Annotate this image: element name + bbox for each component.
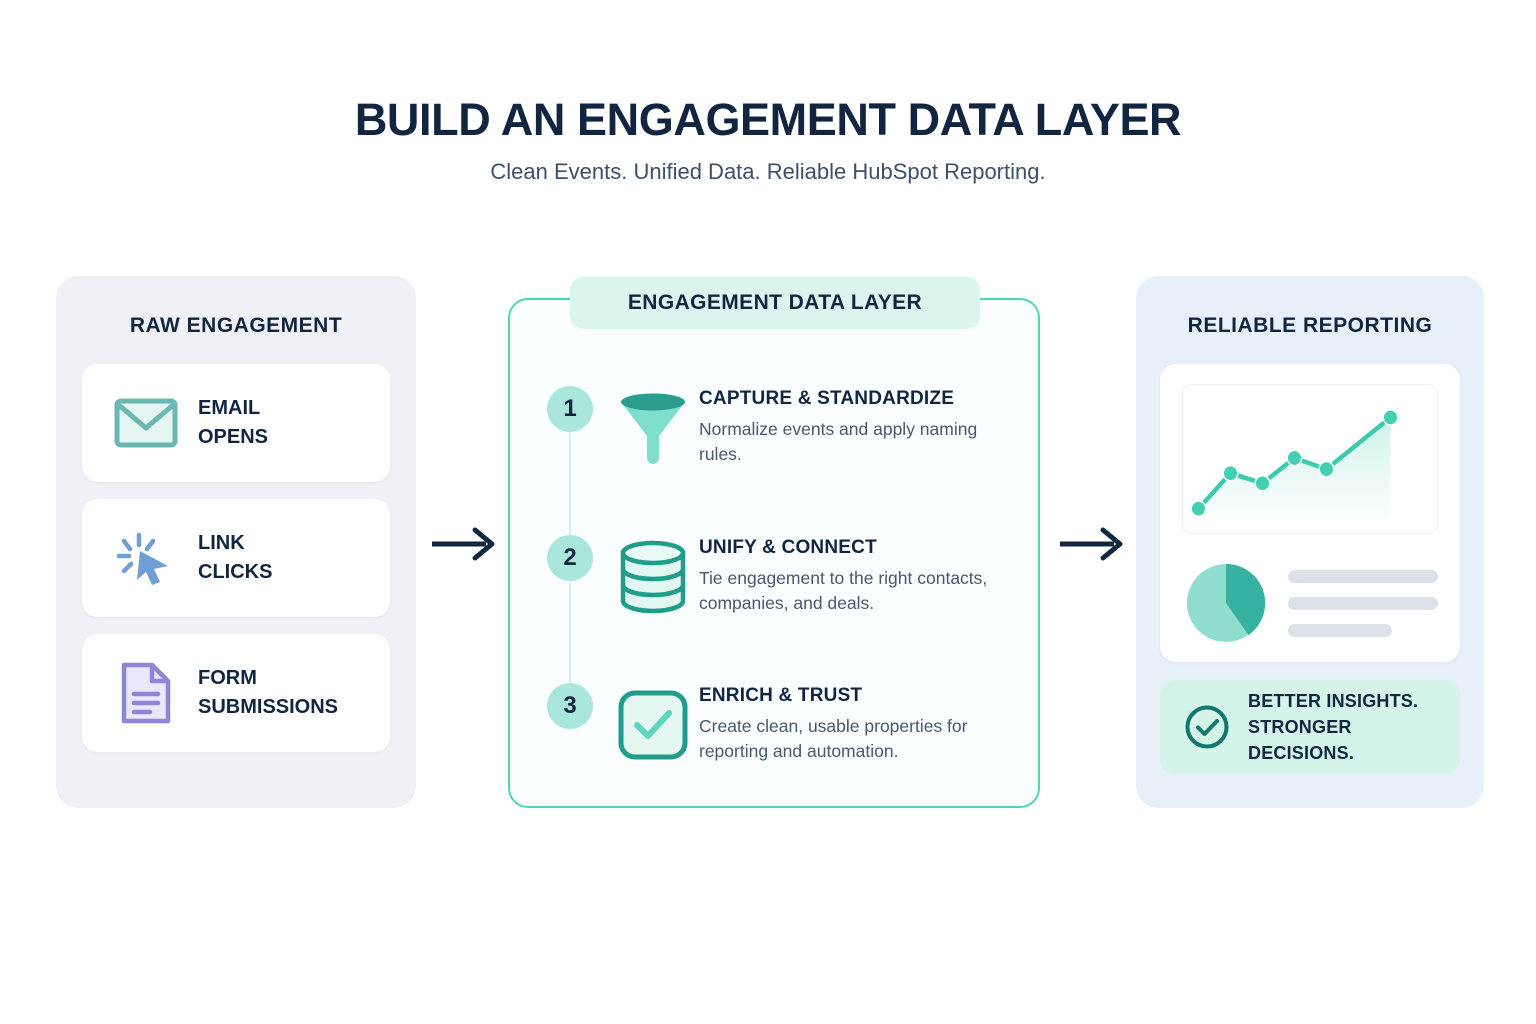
step-item-2[interactable]: 2 UNIFY & CONNECT Tie engagement to the … <box>508 535 1040 619</box>
envelope-icon <box>108 398 184 448</box>
database-icon <box>607 535 699 619</box>
data-point <box>1255 476 1270 491</box>
step-number-2: 2 <box>547 535 593 581</box>
placeholder-bar <box>1288 624 1392 637</box>
arrow-center-to-right-icon <box>1058 524 1128 564</box>
page-subtitle: Clean Events. Unified Data. Reliable Hub… <box>0 159 1536 185</box>
insight-line1: BETTER INSIGHTS. <box>1248 688 1460 714</box>
circle-check-icon <box>1184 704 1232 750</box>
step-text-3: ENRICH & TRUST Create clean, usable prop… <box>699 683 1040 764</box>
steps-list: 1 CAPTURE & STANDARDIZE Normalize events… <box>508 376 1040 796</box>
step-desc-1: Normalize events and apply naming rules. <box>699 417 1014 467</box>
step-title-3: ENRICH & TRUST <box>699 685 1014 707</box>
data-point <box>1383 410 1398 425</box>
raw-engagement-heading: RAW ENGAGEMENT <box>82 314 390 338</box>
page-title: BUILD AN ENGAGEMENT DATA LAYER <box>0 96 1536 143</box>
cursor-click-icon <box>108 529 184 587</box>
insight-text: BETTER INSIGHTS. STRONGER DECISIONS. <box>1248 688 1460 766</box>
source-label-line1: FORM <box>198 664 338 693</box>
data-point <box>1191 501 1206 516</box>
reliable-reporting-heading: RELIABLE REPORTING <box>1160 314 1460 338</box>
step-desc-3: Create clean, usable properties for repo… <box>699 714 1014 764</box>
placeholder-bars <box>1270 570 1438 637</box>
source-label-line2: SUBMISSIONS <box>198 693 338 722</box>
step-item-1[interactable]: 1 CAPTURE & STANDARDIZE Normalize events… <box>508 386 1040 470</box>
arrow-left-to-center-icon <box>430 524 500 564</box>
pie-chart <box>1182 560 1270 646</box>
source-label-line2: CLICKS <box>198 558 272 587</box>
engagement-data-layer-badge: ENGAGEMENT DATA LAYER <box>570 277 980 329</box>
source-label-line2: OPENS <box>198 423 268 452</box>
report-card <box>1160 364 1460 662</box>
insight-line2: STRONGER DECISIONS. <box>1248 714 1460 766</box>
step-number-1: 1 <box>547 386 593 432</box>
source-label-line1: LINK <box>198 529 272 558</box>
insight-badge: BETTER INSIGHTS. STRONGER DECISIONS. <box>1160 680 1460 774</box>
step-title-2: UNIFY & CONNECT <box>699 537 1014 559</box>
step-text-2: UNIFY & CONNECT Tie engagement to the ri… <box>699 535 1040 616</box>
source-card-link-clicks[interactable]: LINK CLICKS <box>82 499 390 617</box>
source-label-email-opens: EMAIL OPENS <box>198 394 268 452</box>
data-point <box>1319 462 1334 477</box>
summary-visuals <box>1182 560 1438 646</box>
funnel-icon <box>607 386 699 470</box>
document-icon <box>108 661 184 725</box>
source-card-email-opens[interactable]: EMAIL OPENS <box>82 364 390 482</box>
raw-engagement-panel: RAW ENGAGEMENT EMAIL OPENS <box>56 276 416 808</box>
step-title-1: CAPTURE & STANDARDIZE <box>699 388 1014 410</box>
line-chart <box>1182 384 1438 534</box>
step-number-3: 3 <box>547 683 593 729</box>
source-label-line1: EMAIL <box>198 394 268 423</box>
source-label-form-submissions: FORM SUBMISSIONS <box>198 664 338 722</box>
source-label-link-clicks: LINK CLICKS <box>198 529 272 587</box>
placeholder-bar <box>1288 597 1438 610</box>
placeholder-bar <box>1288 570 1438 583</box>
step-desc-2: Tie engagement to the right contacts, co… <box>699 566 1014 616</box>
data-point <box>1223 466 1238 481</box>
reliable-reporting-panel: RELIABLE REPORTING <box>1136 276 1484 808</box>
checkbox-check-icon <box>607 683 699 767</box>
step-item-3[interactable]: 3 ENRICH & TRUST Create clean, usable pr… <box>508 683 1040 767</box>
flow-diagram: RAW ENGAGEMENT EMAIL OPENS <box>0 276 1536 816</box>
page-header: BUILD AN ENGAGEMENT DATA LAYER Clean Eve… <box>0 0 1536 185</box>
step-text-1: CAPTURE & STANDARDIZE Normalize events a… <box>699 386 1040 467</box>
data-point <box>1287 450 1302 465</box>
source-card-form-submissions[interactable]: FORM SUBMISSIONS <box>82 634 390 752</box>
